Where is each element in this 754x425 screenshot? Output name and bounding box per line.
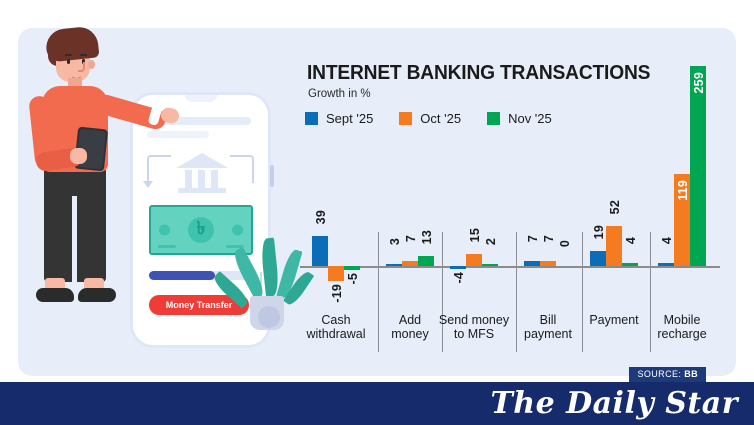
bar	[606, 226, 622, 266]
category-label: Bill payment	[512, 313, 584, 341]
eye-left	[67, 59, 70, 64]
bar	[524, 261, 540, 266]
leg-gap	[72, 196, 77, 284]
bar	[622, 263, 638, 266]
bar-value-label: 7	[541, 235, 557, 242]
nose	[78, 62, 85, 72]
phone-mockup: ৳ Money Transfer	[133, 95, 268, 345]
shoe-left	[36, 288, 74, 302]
bar	[312, 236, 328, 266]
source-value: BB	[684, 369, 698, 379]
bar-value-label: 259	[691, 72, 707, 93]
bar-value-label: -19	[329, 284, 345, 303]
ear	[88, 60, 95, 69]
bar-value-label: 2	[483, 238, 499, 245]
eyebrow-right	[80, 54, 87, 56]
bar-value-label: -5	[345, 273, 361, 285]
bank-building-icon	[176, 153, 228, 193]
shoe-right	[78, 288, 116, 302]
phone-notch	[185, 95, 217, 102]
bar	[690, 66, 706, 266]
bar	[466, 254, 482, 266]
bar	[450, 266, 466, 269]
eyebrow-left	[65, 54, 72, 56]
category-label: Send money to MFS	[438, 313, 510, 341]
bar-value-label: 119	[675, 180, 691, 201]
hair	[44, 25, 99, 62]
category-label: Mobile recharge	[646, 313, 718, 341]
bar	[418, 256, 434, 266]
bar-value-label: 7	[525, 235, 541, 242]
bar-value-label: 52	[607, 200, 623, 214]
bar	[590, 251, 606, 266]
bar-value-label: 15	[467, 228, 483, 242]
infographic-root: ৳ Money Transfer	[0, 0, 754, 425]
category-label: Cash withdrawal	[300, 313, 372, 341]
bar	[540, 261, 556, 266]
arrow-right-icon	[230, 155, 254, 183]
hand-left	[70, 148, 87, 164]
category-label: Add money	[374, 313, 446, 341]
bar-value-label: 7	[403, 235, 419, 242]
bar	[344, 266, 360, 270]
source-badge: SOURCE: BB	[629, 367, 706, 382]
bar-value-label: -4	[451, 272, 467, 284]
bar	[386, 264, 402, 267]
placeholder-line-short	[147, 131, 209, 138]
bar-value-label: 39	[313, 210, 329, 224]
bar	[328, 266, 344, 281]
progress-bar	[149, 271, 249, 280]
bar	[402, 261, 418, 266]
progress-fill	[149, 271, 215, 280]
arrow-left-icon	[147, 155, 171, 183]
bar-value-label: 0	[557, 240, 573, 247]
illustration: ৳ Money Transfer	[18, 0, 288, 376]
pot-highlight	[258, 306, 280, 328]
bar	[482, 264, 498, 267]
bar-value-label: 3	[387, 238, 403, 245]
phone-side-button	[270, 165, 274, 187]
zero-baseline	[300, 266, 720, 268]
taka-symbol: ৳	[197, 214, 206, 245]
bar-chart: 39-19-5Cash withdrawal3713Add money-4152…	[300, 40, 720, 360]
banknote-icon: ৳	[149, 205, 253, 255]
daily-star-logo: The Daily Star	[490, 388, 738, 420]
bar-value-label: 19	[591, 225, 607, 239]
category-label: Payment	[578, 313, 650, 327]
bar-value-label: 4	[659, 237, 675, 244]
bar-value-label: 13	[419, 230, 435, 244]
source-prefix: SOURCE:	[637, 369, 684, 379]
bar	[658, 263, 674, 266]
bar-value-label: 4	[623, 237, 639, 244]
